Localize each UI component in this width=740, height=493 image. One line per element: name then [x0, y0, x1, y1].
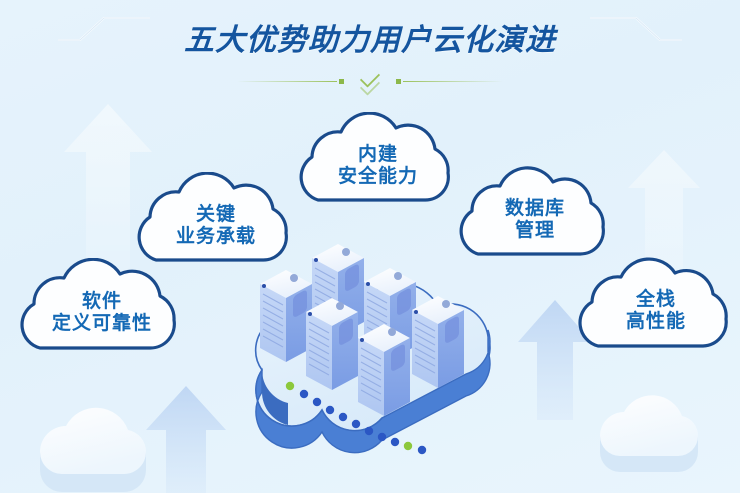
title-divider [220, 66, 520, 96]
title-bracket-right [590, 14, 682, 60]
led-dot [339, 413, 347, 421]
divider-dot-right [396, 79, 401, 84]
led-dot [418, 446, 426, 454]
led-dot [326, 406, 334, 414]
cloud-shape [292, 112, 464, 220]
infographic-canvas: 五大优势助力用户云化演进 [0, 0, 740, 493]
server-rack [358, 324, 410, 416]
arrow-up-icon [146, 386, 226, 493]
cloud-shape [600, 395, 698, 472]
advantage-cloud-full-stack-performance[interactable]: 全栈 高性能 [572, 256, 740, 366]
header: 五大优势助力用户云化演进 [0, 14, 740, 96]
server-rack [412, 296, 464, 388]
cloud-shape [130, 172, 302, 280]
server-rack [260, 270, 312, 362]
server-rack [306, 298, 358, 390]
led-dot [286, 382, 294, 390]
led-dot [352, 420, 360, 428]
cloud-shape [572, 256, 740, 366]
led-dot [300, 390, 308, 398]
divider-line-right [403, 81, 503, 82]
divider-dot-left [339, 79, 344, 84]
led-dot [365, 427, 373, 435]
led-dot [404, 442, 412, 450]
divider-line-left [237, 81, 337, 82]
title-bracket-left [58, 14, 150, 60]
cloud-shape [40, 408, 146, 492]
chevron-down-icon [348, 72, 392, 91]
led-dot [391, 438, 399, 446]
advantage-cloud-critical-business-hosting[interactable]: 关键 业务承载 [130, 172, 302, 280]
led-dot [378, 433, 386, 441]
title-row: 五大优势助力用户云化演进 [130, 14, 610, 60]
advantage-cloud-built-in-security[interactable]: 内建 安全能力 [292, 112, 464, 220]
led-dot [313, 398, 321, 406]
page-title: 五大优势助力用户云化演进 [184, 15, 556, 59]
